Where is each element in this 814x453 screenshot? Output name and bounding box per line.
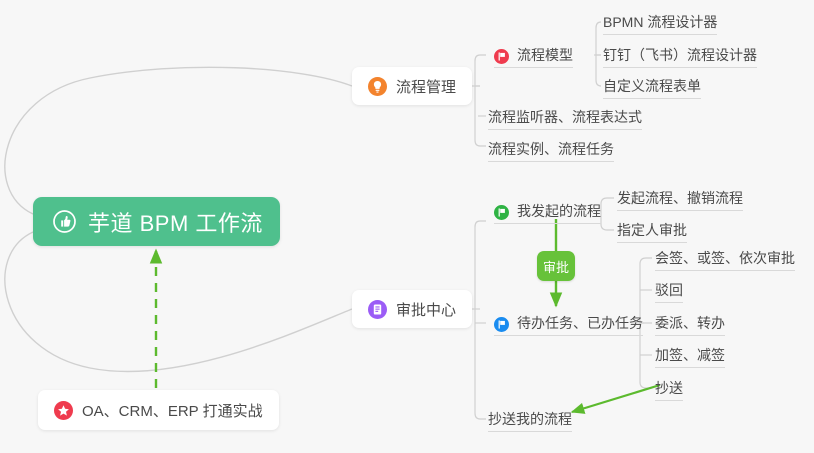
link-root-to-approval-center	[5, 232, 352, 372]
leaf-label-delegate-transfer: 委派、转办	[655, 314, 725, 332]
leaf-label-process-instance-task: 流程实例、流程任务	[488, 140, 614, 158]
leaf-countersign-modes[interactable]: 会签、或签、依次审批	[655, 245, 795, 271]
link-pm-bracket	[475, 55, 486, 146]
leaf-label-carbon-copy: 抄送	[655, 379, 683, 397]
branch-node-process-management[interactable]: 流程管理	[352, 67, 472, 105]
link-mine-bracket	[601, 198, 614, 230]
thumbs-up-icon	[52, 209, 77, 234]
link-pmodel-bracket	[596, 22, 601, 86]
branch-label-process-management: 流程管理	[396, 76, 456, 97]
leaf-custom-form[interactable]: 自定义流程表单	[603, 73, 701, 99]
flag-icon	[494, 49, 509, 64]
leaf-process-model[interactable]: 流程模型	[494, 42, 573, 68]
root-node[interactable]: 芋道 BPM 工作流	[33, 197, 280, 246]
clipboard-icon	[368, 300, 387, 319]
flag-icon	[494, 317, 509, 332]
callout-approve: 审批	[537, 251, 575, 281]
link-ac-bracket	[475, 221, 486, 419]
leaf-label-custom-form: 自定义流程表单	[603, 77, 701, 95]
leaf-label-cc-to-me-process: 抄送我的流程	[488, 410, 572, 428]
leaf-bpmn-designer[interactable]: BPMN 流程设计器	[603, 9, 717, 35]
floating-node-integration[interactable]: OA、CRM、ERP 打通实战	[38, 390, 279, 430]
leaf-my-initiated-process[interactable]: 我发起的流程	[494, 198, 601, 224]
leaf-todo-done-tasks[interactable]: 待办任务、已办任务	[494, 310, 643, 336]
leaf-label-add-remove-sign: 加签、减签	[655, 346, 725, 364]
lightbulb-icon	[368, 77, 387, 96]
leaf-add-remove-sign[interactable]: 加签、减签	[655, 342, 725, 368]
leaf-carbon-copy[interactable]: 抄送	[655, 375, 683, 401]
leaf-reject[interactable]: 驳回	[655, 277, 683, 303]
flag-icon	[494, 205, 509, 220]
mindmap-canvas: 芋道 BPM 工作流 流程管理 流程模型 BPMN 流程设计器 钉钉（飞书	[0, 0, 814, 453]
leaf-label-process-listener-expression: 流程监听器、流程表达式	[488, 108, 642, 126]
arrow-cc-to-cc-my-process	[572, 385, 660, 412]
leaf-label-countersign-modes: 会签、或签、依次审批	[655, 249, 795, 267]
leaf-start-cancel-process[interactable]: 发起流程、撤销流程	[617, 185, 743, 211]
leaf-delegate-transfer[interactable]: 委派、转办	[655, 310, 725, 336]
leaf-process-instance-task[interactable]: 流程实例、流程任务	[488, 136, 614, 162]
callout-approve-label: 审批	[543, 257, 569, 276]
star-icon	[54, 401, 73, 420]
leaf-label-dingtalk-feishu-designer: 钉钉（飞书）流程设计器	[603, 46, 757, 64]
leaf-label-bpmn-designer: BPMN 流程设计器	[603, 13, 717, 31]
link-root-to-process-management	[5, 67, 352, 214]
leaf-assigned-approver[interactable]: 指定人审批	[617, 217, 687, 243]
leaf-dingtalk-feishu-designer[interactable]: 钉钉（飞书）流程设计器	[603, 42, 757, 68]
leaf-process-listener-expression[interactable]: 流程监听器、流程表达式	[488, 104, 642, 130]
leaf-label-start-cancel-process: 发起流程、撤销流程	[617, 189, 743, 207]
root-label: 芋道 BPM 工作流	[88, 206, 263, 238]
leaf-cc-to-me-process[interactable]: 抄送我的流程	[488, 406, 572, 432]
leaf-label-assigned-approver: 指定人审批	[617, 221, 687, 239]
leaf-label-my-initiated-process: 我发起的流程	[517, 202, 601, 220]
branch-node-approval-center[interactable]: 审批中心	[352, 290, 472, 328]
floating-label-integration: OA、CRM、ERP 打通实战	[82, 400, 263, 421]
leaf-label-process-model: 流程模型	[517, 46, 573, 64]
branch-label-approval-center: 审批中心	[396, 299, 456, 320]
leaf-label-todo-done-tasks: 待办任务、已办任务	[517, 314, 643, 332]
leaf-label-reject: 驳回	[655, 281, 683, 299]
